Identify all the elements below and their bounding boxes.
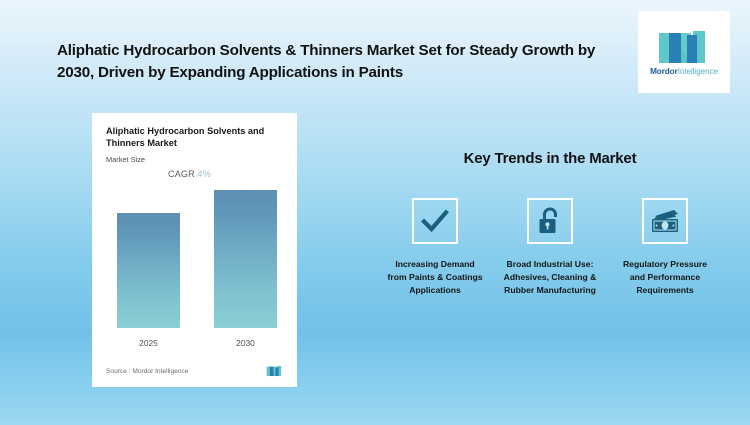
trend-caption-3: Regulatory Pressure and Performance Requ… <box>615 258 715 297</box>
page-header: Aliphatic Hydrocarbon Solvents & Thinner… <box>0 0 750 108</box>
trend-card-2: Broad Industrial Use: Adhesives, Cleanin… <box>500 198 600 297</box>
logo-wordmark-light: Intelligence <box>678 67 718 76</box>
trend-icon-frame-1 <box>412 198 458 244</box>
key-trends-heading: Key Trends in the Market <box>385 150 715 167</box>
x-axis-tick-2025: 2025 <box>117 338 180 348</box>
cagr-value: 4% <box>198 169 211 179</box>
trend-card-3: Regulatory Pressure and Performance Requ… <box>615 198 715 297</box>
bar-2030 <box>214 190 277 328</box>
bar-2025 <box>117 213 180 328</box>
trend-icon-frame-2 <box>527 198 573 244</box>
key-trends-row: Increasing Demand from Paints & Coatings… <box>385 198 715 297</box>
cagr-label: CAGR <box>168 169 195 179</box>
logo-wordmark: MordorIntelligence <box>650 67 718 76</box>
cagr-annotation: CAGR 4% <box>168 169 211 179</box>
trend-icon-frame-3 <box>642 198 688 244</box>
chart-subtitle: Market Size <box>106 155 145 164</box>
bar-chart-plot-area: 2025 2030 <box>92 193 297 353</box>
money-icon <box>650 208 680 234</box>
trend-card-1: Increasing Demand from Paints & Coatings… <box>385 198 485 297</box>
mordor-logo-mark <box>657 29 711 65</box>
unlock-icon <box>536 206 564 236</box>
chart-source-row: Source : Mordor Intelligence <box>106 365 283 377</box>
trend-caption-2: Broad Industrial Use: Adhesives, Cleanin… <box>500 258 600 297</box>
brand-logo: MordorIntelligence <box>638 11 730 93</box>
source-label: Source : Mordor Intelligence <box>106 368 188 375</box>
source-logo-icon <box>266 365 283 377</box>
chart-title: Aliphatic Hydrocarbon Solvents and Thinn… <box>106 125 286 150</box>
page-title: Aliphatic Hydrocarbon Solvents & Thinner… <box>57 40 617 84</box>
market-size-chart-card: Aliphatic Hydrocarbon Solvents and Thinn… <box>92 113 297 387</box>
x-axis-tick-2030: 2030 <box>214 338 277 348</box>
logo-wordmark-bold: Mordor <box>650 67 678 76</box>
trend-caption-1: Increasing Demand from Paints & Coatings… <box>385 258 485 297</box>
check-icon <box>421 207 449 235</box>
